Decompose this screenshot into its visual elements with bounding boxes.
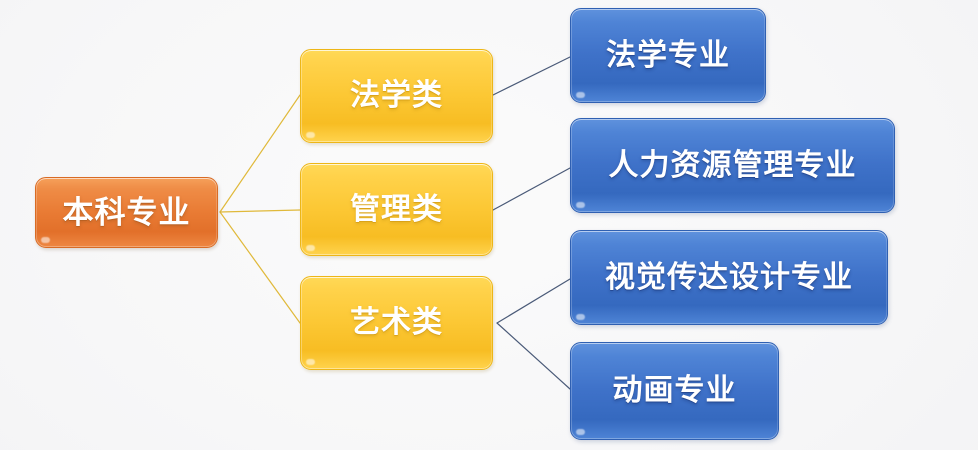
- major-node-major-vcd[interactable]: 视觉传达设计专业: [570, 230, 888, 325]
- major-node-major-law[interactable]: 法学专业: [570, 8, 766, 103]
- category-node-cat-management-label: 管理类: [350, 195, 443, 225]
- category-node-cat-law[interactable]: 法学类: [300, 49, 493, 143]
- major-node-major-anim-label: 动画专业: [613, 376, 737, 406]
- major-node-major-anim[interactable]: 动画专业: [570, 342, 779, 440]
- major-node-major-law-label: 法学专业: [606, 41, 730, 71]
- edge-root-art: [220, 212, 300, 323]
- root-node-root[interactable]: 本科专业: [35, 177, 218, 248]
- edge-root-law: [220, 95, 300, 212]
- diagram-canvas: 本科专业法学类管理类艺术类法学专业人力资源管理专业视觉传达设计专业动画专业: [0, 0, 978, 450]
- major-node-major-vcd-label: 视觉传达设计专业: [605, 263, 853, 293]
- edge-law-major: [493, 57, 570, 95]
- edge-management-hrm: [493, 168, 570, 210]
- category-node-cat-management[interactable]: 管理类: [300, 163, 493, 256]
- edge-art-anim: [497, 323, 570, 389]
- category-node-cat-art-label: 艺术类: [350, 308, 443, 338]
- category-node-cat-art[interactable]: 艺术类: [300, 276, 493, 370]
- category-node-cat-law-label: 法学类: [350, 81, 443, 111]
- major-node-major-hrm-label: 人力资源管理专业: [609, 151, 857, 181]
- edge-root-management: [220, 210, 300, 212]
- edge-art-vcd: [497, 279, 570, 323]
- major-node-major-hrm[interactable]: 人力资源管理专业: [570, 118, 895, 213]
- root-node-root-label: 本科专业: [63, 197, 191, 228]
